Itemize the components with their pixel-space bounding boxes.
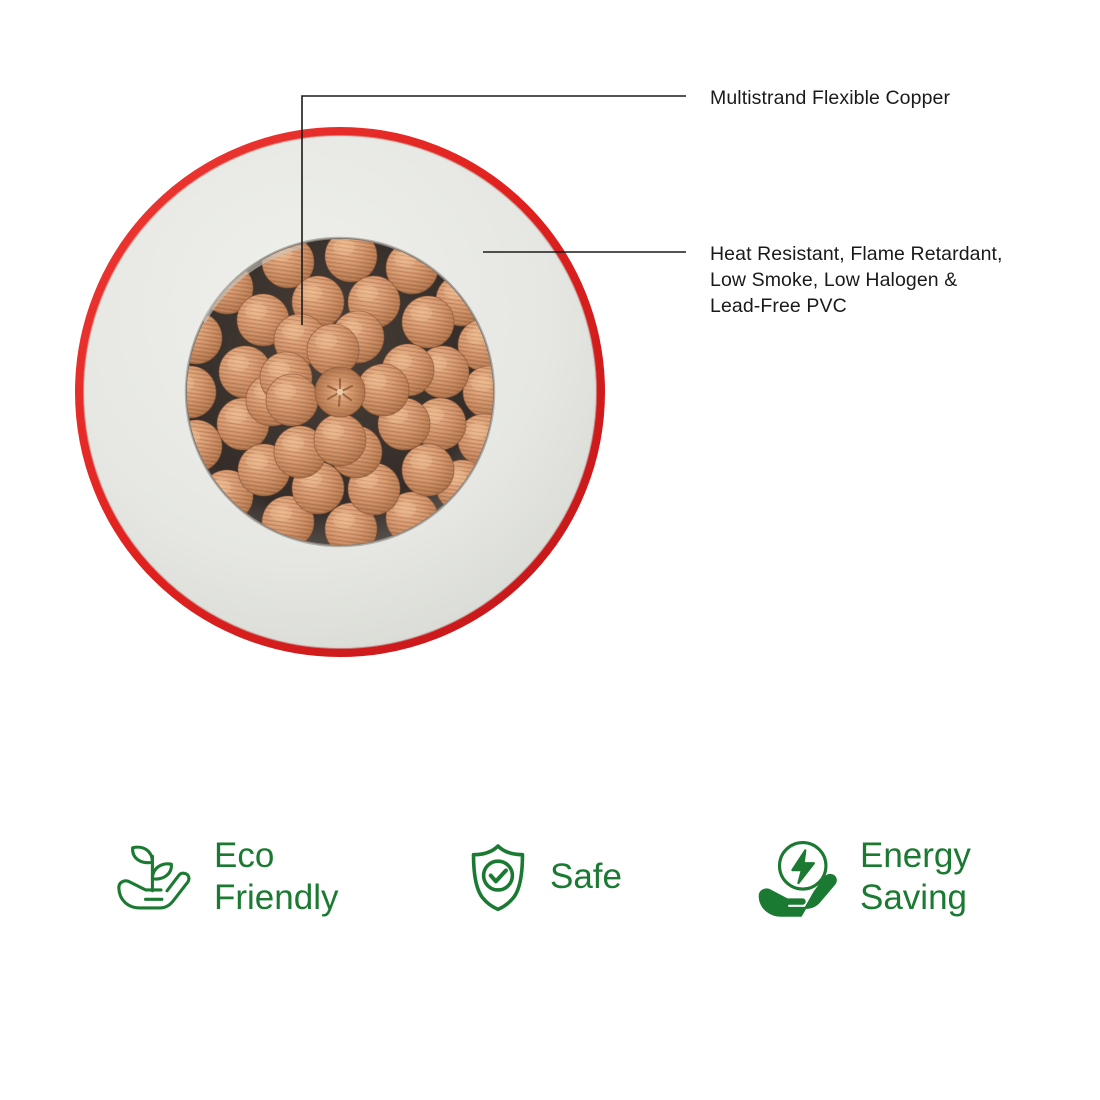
- hand-lightning-icon: [758, 834, 844, 920]
- shield-check-icon: [462, 841, 534, 913]
- callout-label-copper: Multistrand Flexible Copper: [710, 85, 950, 111]
- badge-label-eco-friendly: Eco Friendly: [214, 835, 338, 919]
- callout-label-pvc: Heat Resistant, Flame Retardant, Low Smo…: [710, 241, 1003, 319]
- cable-infographic: Multistrand Flexible Copper Heat Resista…: [0, 0, 1100, 1100]
- hand-sprout-icon: [112, 834, 198, 920]
- badge-label-energy-saving: Energy Saving: [860, 835, 971, 919]
- badge-energy-saving: Energy Saving: [758, 812, 971, 942]
- badge-safe: Safe: [462, 812, 622, 942]
- feature-badge-row: Eco Friendly Safe Energy Saving: [0, 812, 1100, 942]
- badge-label-safe: Safe: [550, 856, 622, 898]
- badge-eco-friendly: Eco Friendly: [112, 812, 338, 942]
- center-strand: [315, 367, 365, 417]
- cable-cross-section-diagram: [0, 0, 1100, 760]
